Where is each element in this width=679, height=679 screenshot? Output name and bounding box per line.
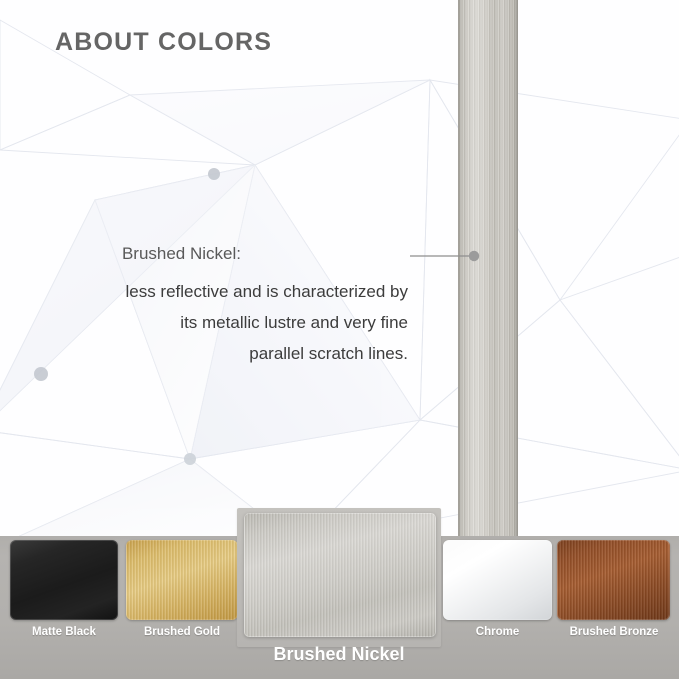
- annotation-description-line-3: parallel scratch lines.: [40, 339, 408, 370]
- annotation-description-line-1: less reflective and is characterized by: [40, 277, 408, 308]
- page-title: ABOUT COLORS: [55, 28, 272, 57]
- swatch-label-brushed-gold: Brushed Gold: [122, 626, 242, 638]
- swatch-brushed-gold[interactable]: [126, 540, 238, 620]
- swatch-brushed-nickel[interactable]: [244, 513, 436, 637]
- swatch-label-brushed-bronze: Brushed Bronze: [550, 626, 678, 638]
- swatch-matte-black[interactable]: [10, 540, 118, 620]
- annotation-label: Brushed Nickel:: [122, 244, 241, 264]
- strip-left-edge-shading: [458, 0, 460, 537]
- strip-right-edge-shading: [515, 0, 518, 537]
- about-colors-infographic: ABOUT COLORS Brushed Nickel: less reflec…: [0, 0, 679, 679]
- swatch-label-chrome: Chrome: [440, 626, 555, 638]
- swatch-label-brushed-nickel: Brushed Nickel: [237, 644, 441, 665]
- swatch-label-matte-black: Matte Black: [4, 626, 124, 638]
- swatch-brushed-bronze[interactable]: [557, 540, 670, 620]
- brushed-nickel-sample-strip: [458, 0, 518, 537]
- swatch-chrome[interactable]: [443, 540, 552, 620]
- annotation-description-line-2: its metallic lustre and very fine: [40, 308, 408, 339]
- annotation-description: less reflective and is characterized by …: [40, 277, 408, 370]
